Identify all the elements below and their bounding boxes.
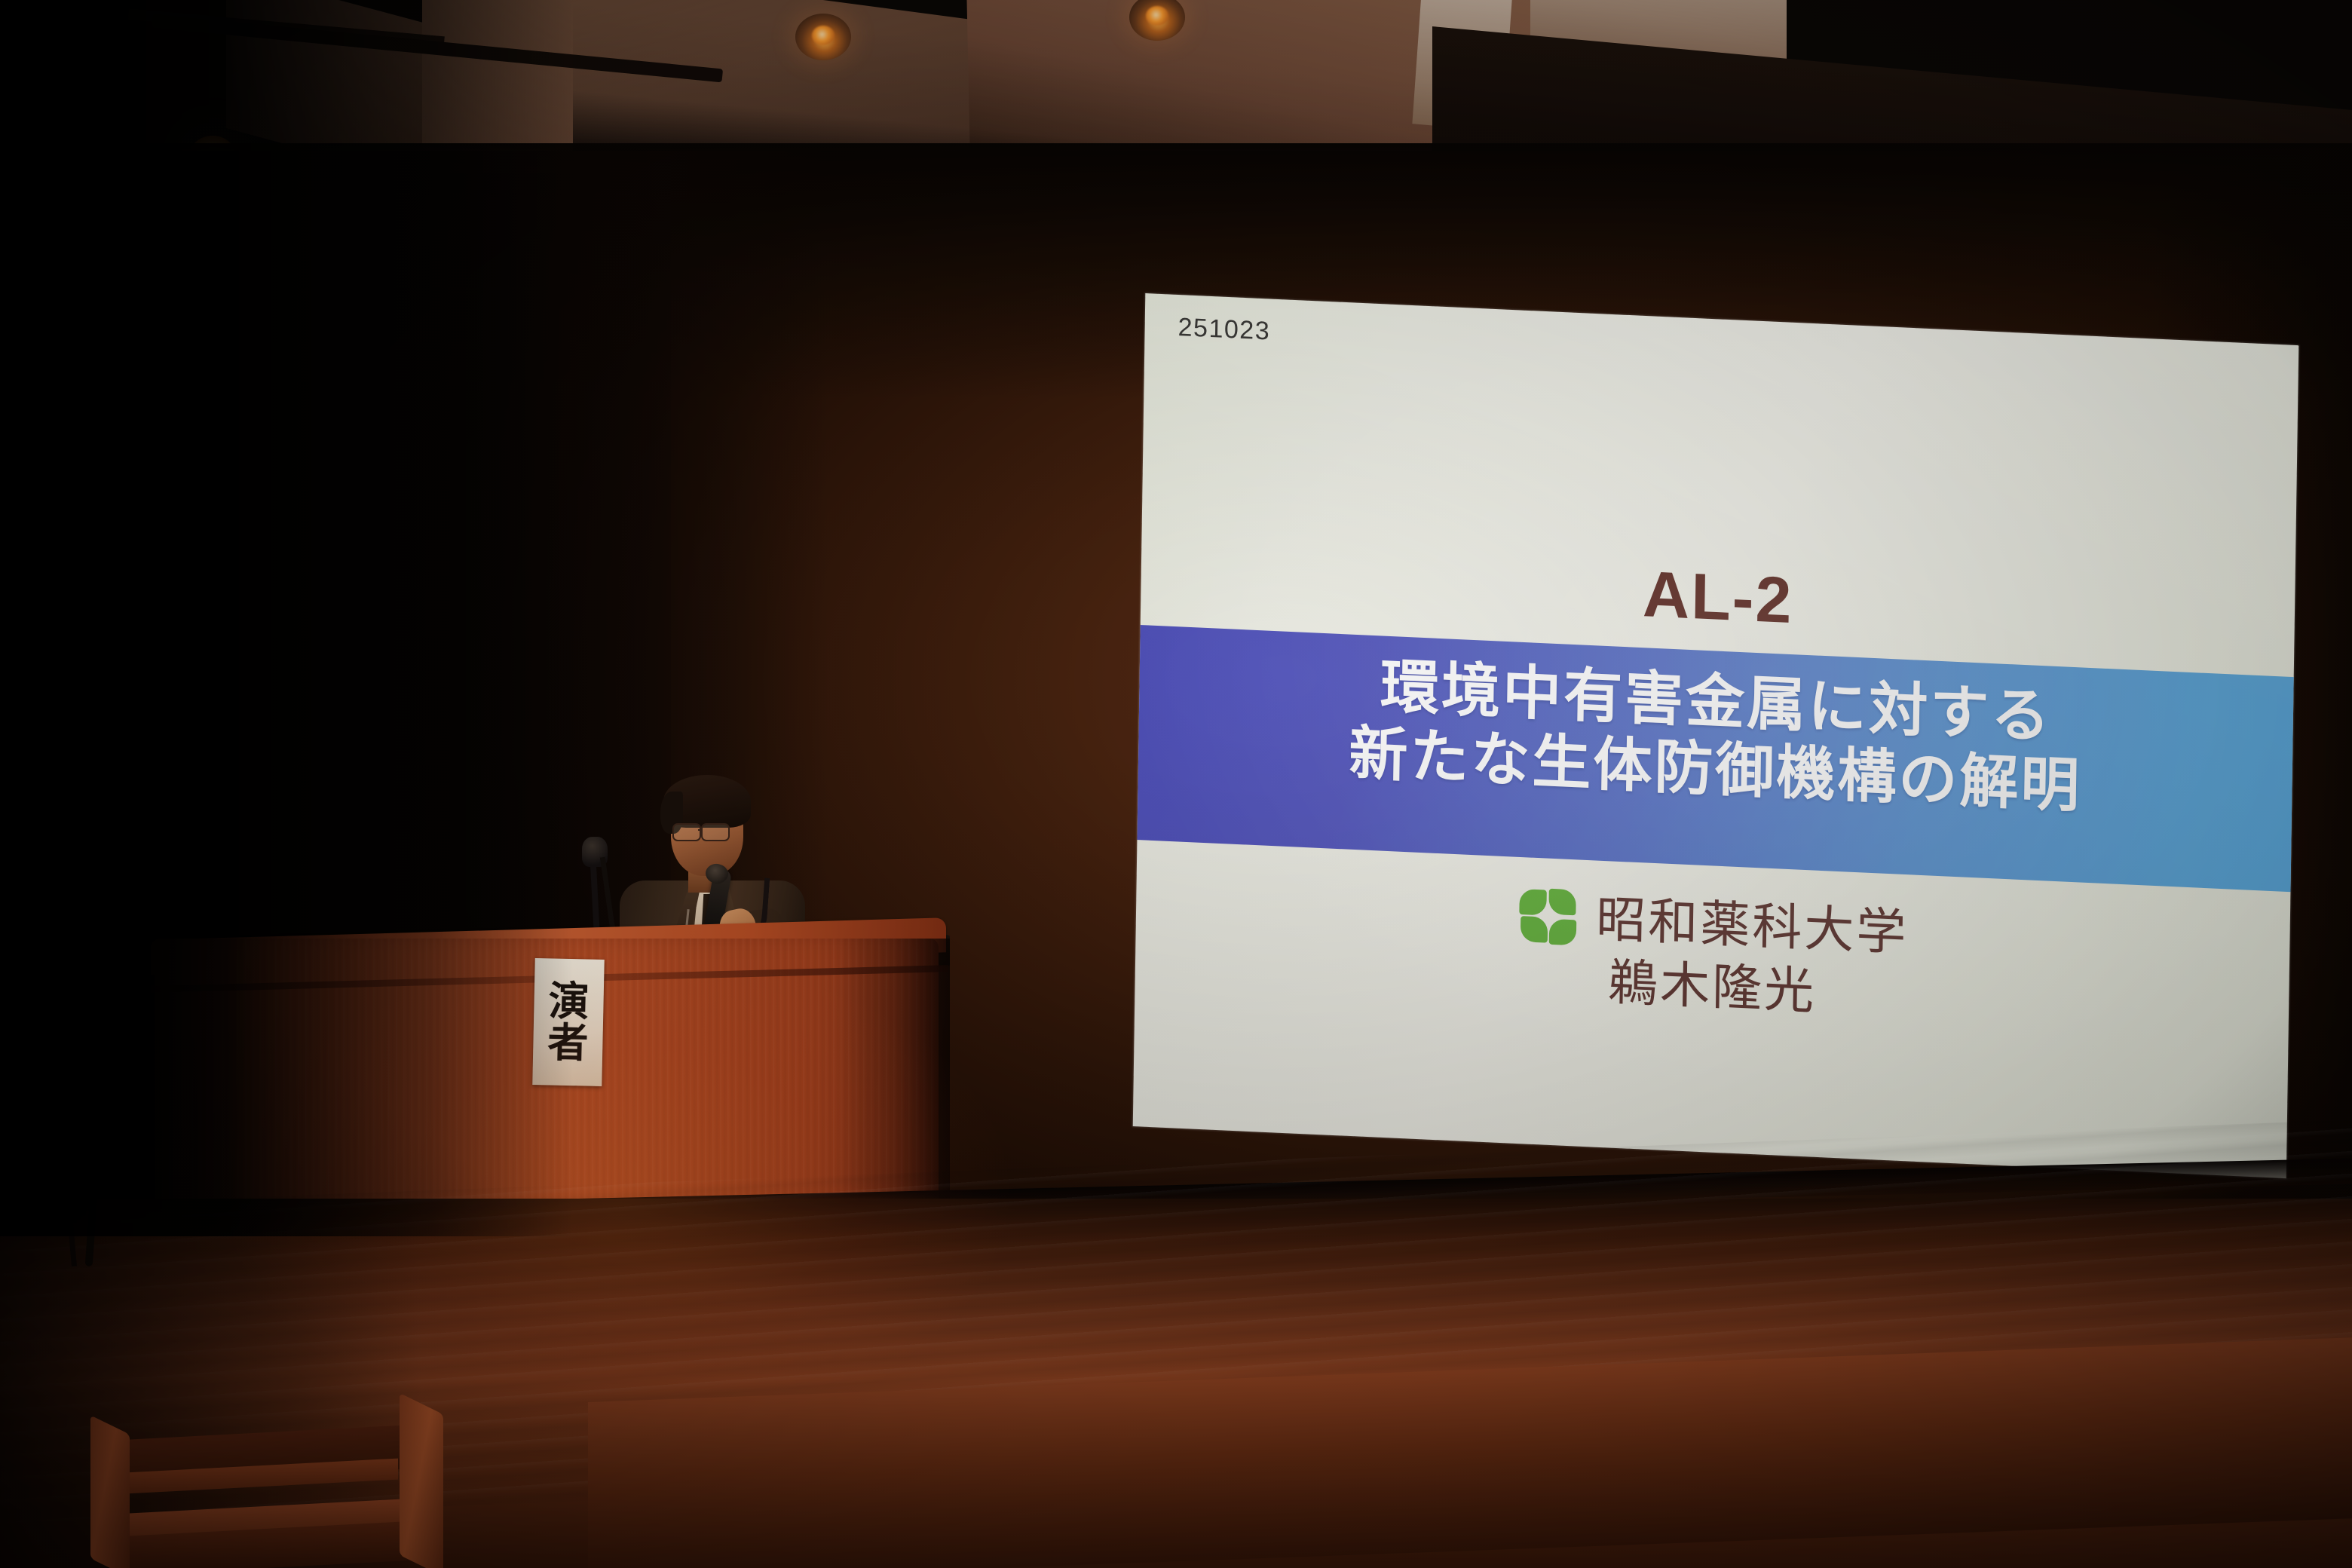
university-logo-icon	[1517, 887, 1577, 946]
eyeglasses-lens-left-icon	[672, 823, 701, 841]
stage-steps	[75, 1417, 603, 1568]
downlight-bulb-icon	[812, 26, 835, 45]
logo-leaf-bottom-right	[1549, 919, 1577, 946]
logo-leaf-bottom-left	[1521, 916, 1548, 943]
placard-char-1: 演	[548, 980, 590, 1022]
placard-char-2: 者	[547, 1021, 589, 1064]
step-railing-right	[400, 1393, 443, 1568]
logo-leaf-top-left	[1519, 889, 1547, 916]
logo-leaf-top-right	[1548, 889, 1576, 916]
downlight-bulb-icon	[1146, 6, 1168, 26]
speaker-placard: 演 者	[532, 958, 604, 1086]
step-railing-left	[90, 1415, 130, 1568]
slide-number: 251023	[1178, 313, 1270, 347]
auditorium-scene: 251023 AL-2 環境中有害金属に対する 新たな生体防御機構の解明 昭和薬…	[0, 0, 2352, 1568]
slide-surface: 251023 AL-2 環境中有害金属に対する 新たな生体防御機構の解明 昭和薬…	[1133, 293, 2299, 1178]
projection-screen: 251023 AL-2 環境中有害金属に対する 新たな生体防御機構の解明 昭和薬…	[1118, 158, 2322, 1079]
ceiling-downlight-icon	[795, 14, 851, 60]
presenter-block: 昭和薬科大学 鵜木隆光	[1135, 868, 2289, 1043]
eyeglasses-lens-right-icon	[701, 823, 730, 841]
eyeglasses-bridge-icon	[698, 829, 703, 831]
